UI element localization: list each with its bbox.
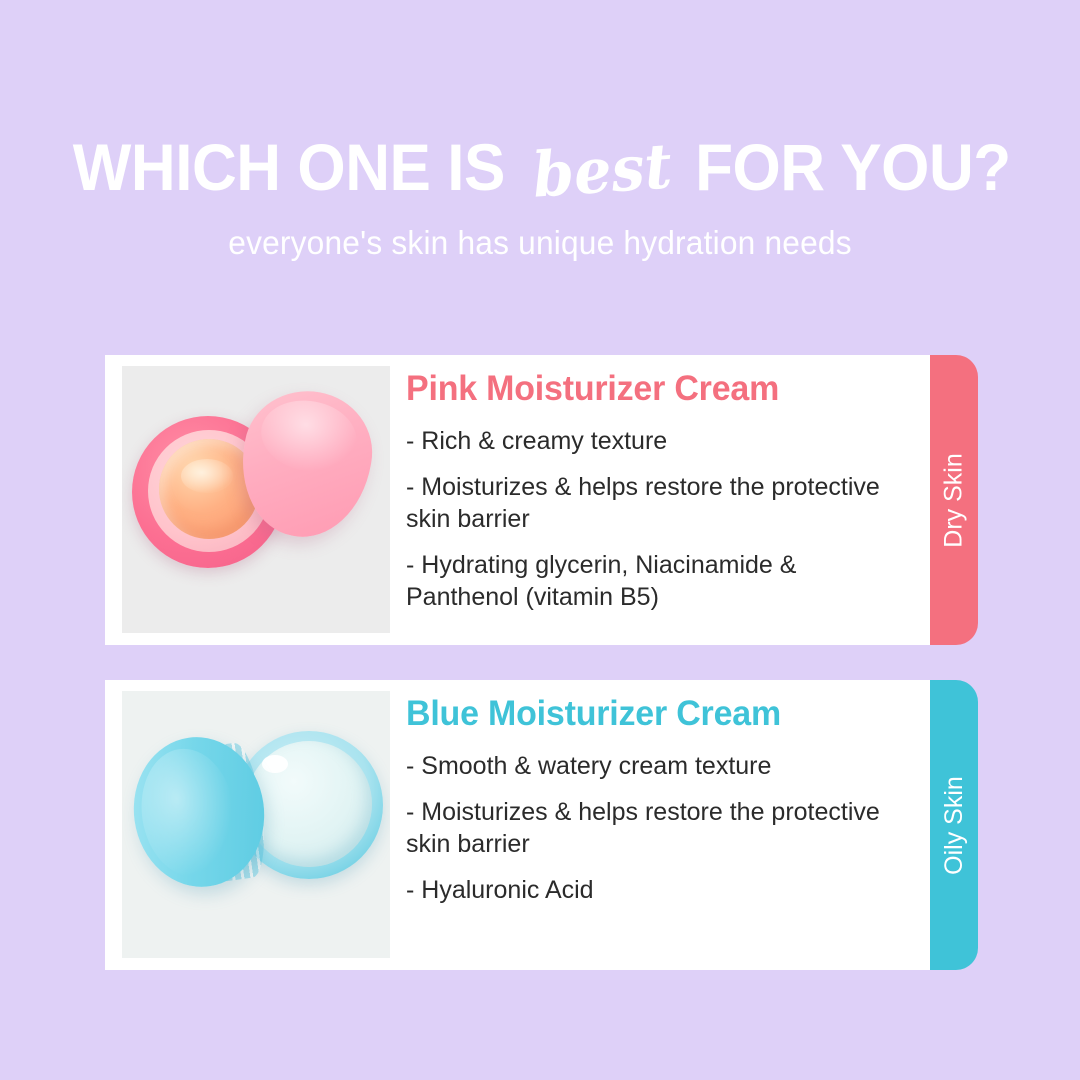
skin-type-tab-dry[interactable]: Dry Skin bbox=[930, 355, 978, 645]
product-details-pink: Pink Moisturizer Cream - Rich & creamy t… bbox=[390, 355, 930, 627]
headline-post-text: FOR YOU? bbox=[695, 134, 1011, 200]
product-title-pink: Pink Moisturizer Cream bbox=[406, 369, 914, 409]
product-image-blue bbox=[122, 691, 390, 958]
header: WHICH ONE IS best FOR YOU? everyone's sk… bbox=[0, 0, 1080, 262]
headline-script-word: best bbox=[521, 135, 683, 208]
skin-type-tab-label: Dry Skin bbox=[940, 453, 969, 547]
product-details-blue: Blue Moisturizer Cream - Smooth & watery… bbox=[390, 680, 930, 920]
list-item: - Hyaluronic Acid bbox=[406, 874, 886, 906]
page-title: WHICH ONE IS best FOR YOU? bbox=[0, 132, 1080, 202]
skin-type-tab-label: Oily Skin bbox=[940, 776, 969, 875]
headline-pre-text: WHICH ONE IS bbox=[73, 134, 505, 200]
list-item: - Hydrating glycerin, Niacinamide & Pant… bbox=[406, 549, 886, 613]
product-card-pink[interactable]: Pink Moisturizer Cream - Rich & creamy t… bbox=[105, 355, 930, 645]
list-item: - Rich & creamy texture bbox=[406, 425, 886, 457]
list-item: - Moisturizes & helps restore the protec… bbox=[406, 796, 886, 860]
product-bullets-blue: - Smooth & watery cream texture - Moistu… bbox=[406, 750, 930, 906]
list-item: - Smooth & watery cream texture bbox=[406, 750, 886, 782]
blue-cream-icon bbox=[246, 741, 372, 867]
product-card-blue[interactable]: Blue Moisturizer Cream - Smooth & watery… bbox=[105, 680, 930, 970]
list-item: - Moisturizes & helps restore the protec… bbox=[406, 471, 886, 535]
skin-type-tab-oily[interactable]: Oily Skin bbox=[930, 680, 978, 970]
product-title-blue: Blue Moisturizer Cream bbox=[406, 694, 914, 734]
page-subtitle: everyone's skin has unique hydration nee… bbox=[22, 224, 1059, 262]
product-image-pink bbox=[122, 366, 390, 633]
product-bullets-pink: - Rich & creamy texture - Moisturizes & … bbox=[406, 425, 930, 613]
